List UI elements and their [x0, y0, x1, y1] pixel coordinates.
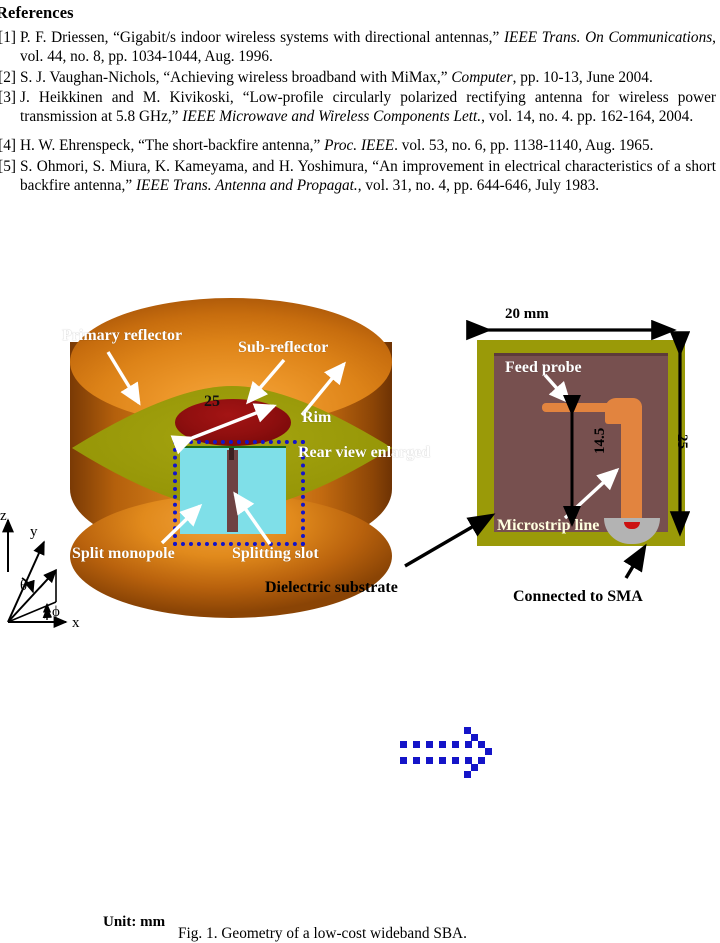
reference-text-tail: , pp. 10-13, June 2004. [513, 69, 653, 86]
reference-text-italic: IEEE Trans. On Communications [504, 29, 712, 46]
reference-text: S. Ohmori, S. Miura, K. Kameyama, and H.… [20, 157, 720, 196]
figure-1: Primary reflector Sub-reflector Rim Rear… [0, 284, 720, 669]
coordinate-axes: z y x θ ϕ [0, 514, 110, 644]
label-rim: Rim [302, 410, 331, 427]
dielectric-substrate-arrow [395, 494, 515, 584]
enlargement-pointer-arrow [400, 721, 504, 789]
references-list: [1] P. F. Driessen, “Gigabit/s indoor wi… [0, 28, 720, 195]
label-splitting-slot: Splitting slot [232, 546, 319, 563]
axis-label-y: y [30, 524, 38, 540]
reference-number: [5] [0, 157, 20, 176]
reference-item: [2] S. J. Vaughan-Nichols, “Achieving wi… [0, 68, 720, 87]
reference-text-italic: IEEE Microwave and Wireless Components L… [182, 108, 481, 125]
references-section: References [1] P. F. Driessen, “Gigabit/… [0, 0, 720, 196]
reference-spacer [0, 127, 720, 136]
reference-text: P. F. Driessen, “Gigabit/s indoor wirele… [20, 28, 720, 67]
reference-text-tail: , vol. 31, no. 4, pp. 644-646, July 1983… [358, 177, 599, 194]
references-heading: References [0, 4, 720, 22]
reference-text-main: S. J. Vaughan-Nichols, “Achieving wirele… [20, 69, 451, 86]
reference-text: H. W. Ehrenspeck, “The short-backfire an… [20, 136, 720, 155]
reference-text-italic: IEEE Trans. Antenna and Propagat. [136, 177, 358, 194]
dimension-board-height: 25 [673, 434, 690, 449]
reference-item: [3] J. Heikkinen and M. Kivikoski, “Low-… [0, 88, 720, 127]
reference-number: [2] [0, 68, 20, 87]
reference-text-italic: Proc. IEEE [324, 137, 394, 154]
axis-label-x: x [72, 615, 80, 631]
reference-item: [5] S. Ohmori, S. Miura, K. Kameyama, an… [0, 157, 720, 196]
reference-text: S. J. Vaughan-Nichols, “Achieving wirele… [20, 68, 720, 87]
reference-number: [1] [0, 28, 20, 47]
axis-label-z: z [0, 508, 7, 524]
reference-text-tail: . vol. 53, no. 6, pp. 1138-1140, Aug. 19… [394, 137, 653, 154]
reference-text: J. Heikkinen and M. Kivikoski, “Low-prof… [20, 88, 720, 127]
reference-text-tail: , vol. 14, no. 4. pp. 162-164, 2004. [481, 108, 693, 125]
reference-item: [1] P. F. Driessen, “Gigabit/s indoor wi… [0, 28, 720, 67]
dimension-board-width: 20 mm [505, 306, 549, 323]
reference-number: [3] [0, 88, 20, 107]
reference-text-main: P. F. Driessen, “Gigabit/s indoor wirele… [20, 29, 504, 46]
reference-text-italic: Computer [451, 69, 512, 86]
axis-label-theta: θ [20, 578, 27, 594]
label-connected-to-sma: Connected to SMA [513, 589, 643, 606]
dimension-probe-offset: 14.5 [592, 428, 609, 454]
label-sub-reflector: Sub-reflector [238, 340, 328, 357]
unit-note: Unit: mm [103, 914, 165, 931]
reference-item: [4] H. W. Ehrenspeck, “The short-backfir… [0, 136, 720, 155]
label-rear-view-enlarged: Rear view enlarged [298, 445, 430, 462]
dimension-sub-reflector-25: 25 [204, 394, 220, 411]
label-dielectric-substrate: Dielectric substrate [265, 580, 398, 597]
reference-text-main: H. W. Ehrenspeck, “The short-backfire an… [20, 137, 324, 154]
label-primary-reflector: Primary reflector [62, 328, 182, 345]
reference-number: [4] [0, 136, 20, 155]
axis-label-phi: ϕ [52, 604, 60, 620]
figure-caption: Fig. 1. Geometry of a low-cost wideband … [178, 925, 467, 943]
